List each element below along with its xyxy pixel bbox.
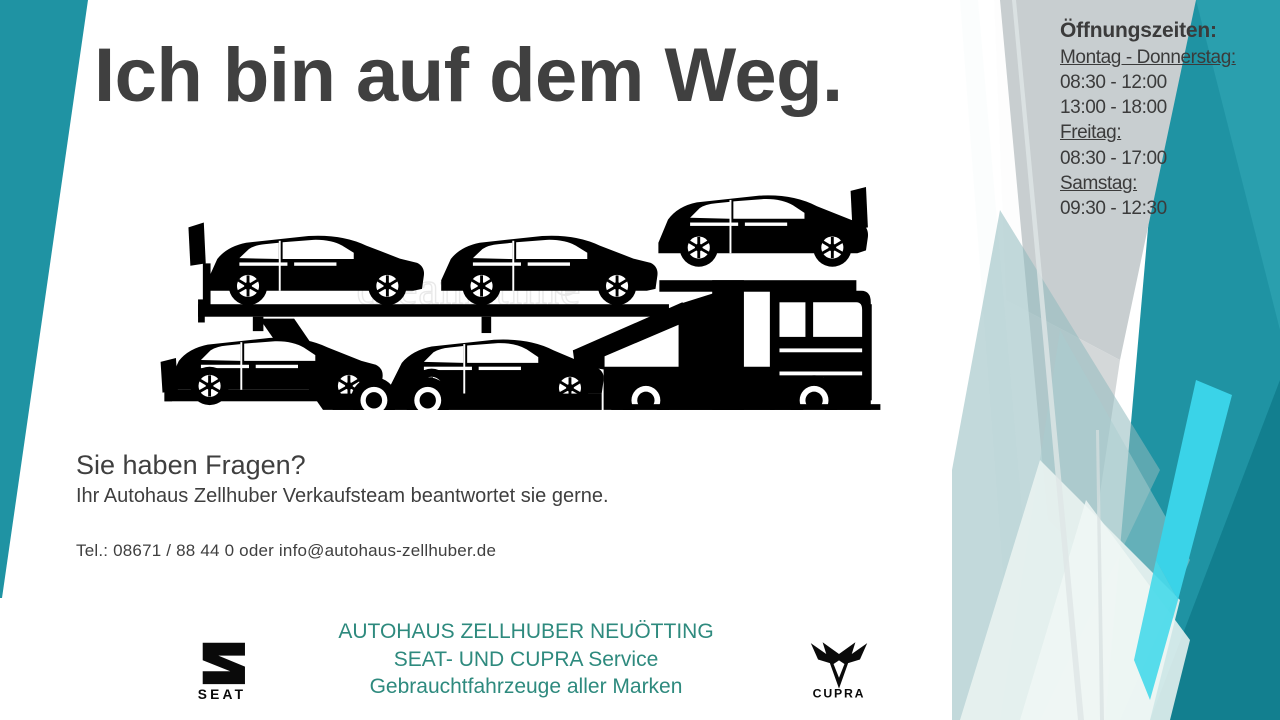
footer-line-2: SEAT- UND CUPRA Service	[300, 646, 752, 674]
car-transporter-illustration: dreamstime	[150, 160, 890, 410]
seat-wordmark: SEAT	[198, 687, 247, 702]
seat-logo-svg: SEAT	[176, 640, 268, 702]
svg-text:SEAT: SEAT	[198, 687, 247, 702]
questions-subheading: Ihr Autohaus Zellhuber Verkaufsteam bean…	[76, 483, 836, 509]
footer-brand-text: AUTOHAUS ZELLHUBER NEUÖTTING SEAT- UND C…	[300, 618, 752, 701]
questions-block: Sie haben Fragen? Ihr Autohaus Zellhuber…	[76, 450, 836, 509]
seat-s-mark	[203, 643, 245, 684]
cupra-wordmark: CUPRA	[813, 687, 866, 700]
footer-line-1: AUTOHAUS ZELLHUBER NEUÖTTING	[300, 618, 752, 646]
hours-day-mon-thu: Montag - Donnerstag:	[1060, 45, 1275, 70]
cupra-logo-svg: CUPRA	[793, 634, 885, 700]
hours-day-friday: Freitag:	[1060, 120, 1275, 145]
questions-heading: Sie haben Fragen?	[76, 450, 836, 481]
svg-text:CUPRA: CUPRA	[813, 687, 866, 700]
footer-line-3: Gebrauchtfahrzeuge aller Marken	[300, 673, 752, 701]
seat-logo: SEAT	[176, 640, 268, 702]
cupra-tribal-mark	[811, 642, 867, 688]
opening-hours-block: Öffnungszeiten: Montag - Donnerstag: 08:…	[1060, 18, 1275, 221]
hours-time-friday: 08:30 - 17:00	[1060, 146, 1275, 171]
contact-line[interactable]: Tel.: 08671 / 88 44 0 oder info@autohaus…	[76, 541, 496, 561]
car-upper-1	[208, 236, 424, 305]
page-title: Ich bin auf dem Weg.	[94, 38, 843, 114]
truck-silhouette-svg: dreamstime	[150, 160, 890, 410]
hours-time-mon-thu-2: 13:00 - 18:00	[1060, 95, 1275, 120]
hours-time-mon-thu-1: 08:30 - 12:00	[1060, 70, 1275, 95]
cupra-logo: CUPRA	[793, 634, 885, 700]
slide-canvas: Ich bin auf dem Weg. dreamstime	[0, 0, 1280, 720]
car-upper-3	[658, 187, 868, 267]
hours-time-saturday: 09:30 - 12:30	[1060, 196, 1275, 221]
hours-day-saturday: Samstag:	[1060, 171, 1275, 196]
opening-hours-title: Öffnungszeiten:	[1060, 18, 1275, 44]
